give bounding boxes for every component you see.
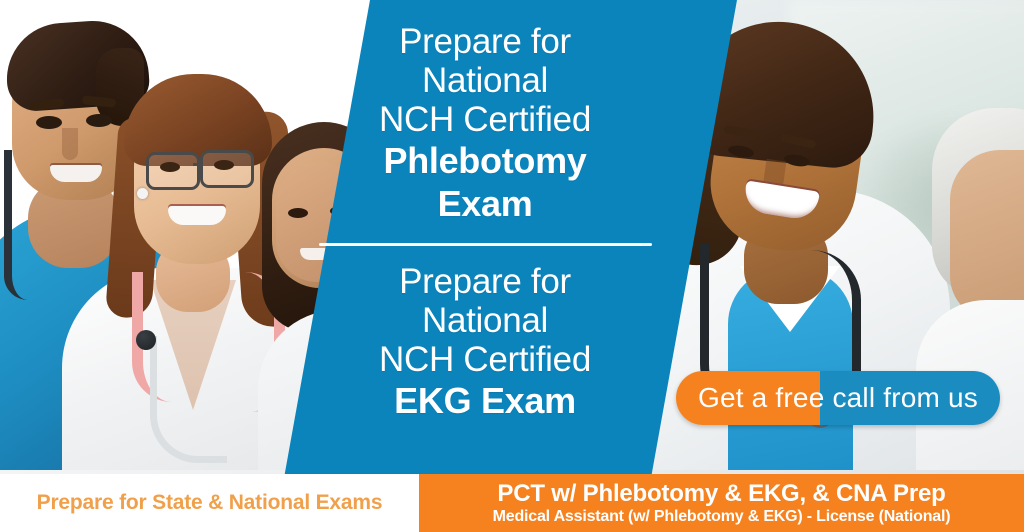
male-nurse-smile — [50, 165, 102, 182]
earring — [137, 188, 148, 199]
bottom-bar: Prepare for State & National Exams PCT w… — [0, 474, 1024, 532]
promotional-banner: Prepare for National NCH Certified Phleb… — [0, 0, 1024, 532]
female-nurse-eye-left — [160, 162, 180, 172]
program-subtitle: Medical Assistant (w/ Phlebotomy & EKG) … — [493, 507, 951, 527]
stethoscope-tube-grey — [150, 336, 227, 463]
female-nurse-eye-right — [214, 160, 234, 170]
headline-2-line-2: National — [300, 301, 670, 340]
stethoscope-tube-left — [4, 150, 28, 300]
headline-1-line-5: Exam — [300, 182, 670, 225]
prepare-for-exams-text: Prepare for State & National Exams — [37, 491, 383, 515]
headline-1-line-4: Phlebotomy — [300, 139, 670, 182]
stethoscope-bell-dark — [136, 330, 156, 350]
headline-1-line-1: Prepare for — [300, 22, 670, 61]
bottom-bar-right-section: PCT w/ Phlebotomy & EKG, & CNA Prep Medi… — [419, 474, 1024, 532]
program-title: PCT w/ Phlebotomy & EKG, & CNA Prep — [497, 480, 945, 507]
headline-panel-content: Prepare for National NCH Certified Phleb… — [300, 0, 670, 478]
headline-1-line-2: National — [300, 61, 670, 100]
male-nurse-nose — [62, 128, 78, 160]
headline-1-line-3: NCH Certified — [300, 100, 670, 139]
headline-ekg: Prepare for National NCH Certified EKG E… — [300, 262, 670, 422]
bottom-bar-left-section: Prepare for State & National Exams — [0, 474, 419, 532]
male-nurse-eye-left — [36, 116, 62, 129]
headline-2-line-1: Prepare for — [300, 262, 670, 301]
get-a-free-call-button[interactable]: Get a free call from us — [676, 371, 1000, 425]
headline-divider — [319, 243, 652, 246]
headline-phlebotomy: Prepare for National NCH Certified Phleb… — [300, 22, 670, 225]
patient-face — [950, 150, 1024, 320]
headline-2-line-4: EKG Exam — [300, 379, 670, 422]
male-nurse-eye-right — [86, 114, 112, 127]
female-nurse-smile — [168, 206, 226, 225]
cta-label: Get a free call from us — [698, 382, 978, 414]
eyeglasses-bridge — [193, 163, 203, 166]
headline-2-line-3: NCH Certified — [300, 340, 670, 379]
